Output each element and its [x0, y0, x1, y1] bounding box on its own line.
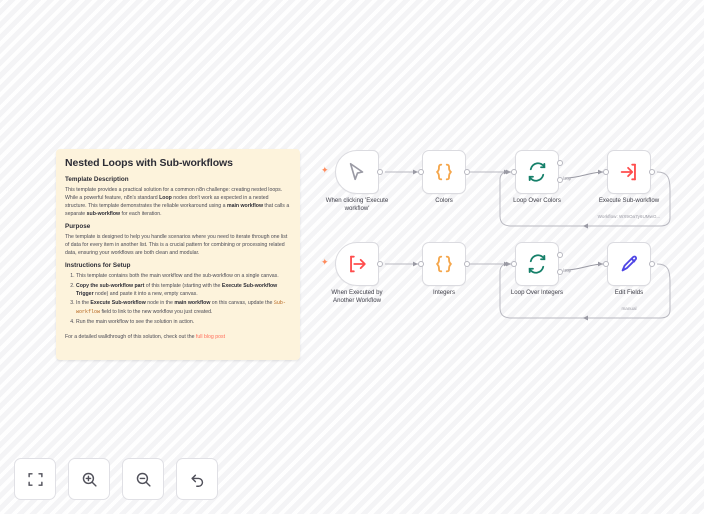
output-port-done[interactable] [557, 252, 563, 258]
instruction-item: Copy the sub-workflow part of this templ… [76, 282, 291, 298]
zoom-out-button[interactable] [122, 458, 164, 500]
description-bold-loop: Loop [159, 195, 172, 201]
footer-text: For a detailed walkthrough of this solut… [65, 334, 196, 340]
sticky-note-panel[interactable]: Nested Loops with Sub-workflows Template… [56, 149, 300, 360]
instruction-text: Copy the sub-workflow part [76, 283, 144, 289]
node-loop-over-integers[interactable]: loopLoop Over Integers [515, 242, 559, 286]
purpose-paragraph: The template is designed to help you han… [65, 233, 291, 257]
output-port[interactable] [464, 169, 470, 175]
node-integers[interactable]: Integers [422, 242, 466, 286]
loop-refresh-icon [526, 161, 548, 183]
node-loop-over-colors[interactable]: loopLoop Over Colors [515, 150, 559, 194]
instructions-list: This template contains both the main wor… [76, 272, 291, 326]
node-when-clicking-execute-workflow[interactable]: ✦When clicking 'Execute workflow' [335, 150, 379, 194]
execute-arrow-icon [618, 161, 640, 183]
sticky-note-footer: For a detailed walkthrough of this solut… [65, 334, 291, 340]
trigger-bolt-icon: ✦ [321, 166, 329, 175]
node-colors[interactable]: Colors [422, 150, 466, 194]
description-paragraph: This template provides a practical solut… [65, 186, 291, 218]
node-body-when-executed-by-another-workflow[interactable] [335, 242, 379, 286]
output-port-loop-label: loop [563, 176, 571, 181]
input-port[interactable] [511, 169, 517, 175]
output-port-done[interactable] [557, 160, 563, 166]
input-port[interactable] [603, 261, 609, 267]
reset-zoom-button[interactable] [176, 458, 218, 500]
instruction-item: Run the main workflow to see the solutio… [76, 318, 291, 326]
output-port[interactable] [377, 261, 383, 267]
node-label: Execute Sub-workflow [577, 197, 681, 205]
node-label: Loop Over Integers [485, 289, 589, 297]
node-body-edit-fields[interactable] [607, 242, 651, 286]
pencil-icon [618, 253, 640, 275]
sticky-note-title: Nested Loops with Sub-workflows [65, 157, 291, 170]
output-port[interactable] [464, 261, 470, 267]
instruction-text: Run the main workflow to see the solutio… [76, 319, 194, 325]
instruction-text: This template contains both the main wor… [76, 273, 279, 279]
node-body-when-clicking-execute-workflow[interactable] [335, 150, 379, 194]
instruction-text: of this template (starting with the [144, 283, 222, 289]
instruction-text: field to link to the new workflow you ju… [100, 309, 212, 315]
loop-refresh-icon [526, 253, 548, 275]
instruction-text: on this canvas, update the [210, 300, 273, 306]
enter-arrow-icon [346, 253, 368, 275]
node-when-executed-by-another-workflow[interactable]: ✦When Executed by Another Workflow [335, 242, 379, 286]
code-braces-icon [433, 161, 455, 183]
zoom-in-button[interactable] [68, 458, 110, 500]
description-text-4: for each iteration. [120, 211, 162, 217]
input-port[interactable] [603, 169, 609, 175]
instruction-text: In the [76, 300, 90, 306]
node-body-loop-over-integers[interactable] [515, 242, 559, 286]
node-edit-fields[interactable]: Edit Fieldsmanual [607, 242, 651, 286]
node-label: Edit Fields [577, 289, 681, 297]
output-port[interactable] [649, 169, 655, 175]
node-body-integers[interactable] [422, 242, 466, 286]
full-blog-post-link[interactable]: full blog post [196, 334, 225, 340]
section-heading-purpose: Purpose [65, 223, 291, 230]
output-port-loop-label: loop [563, 268, 571, 273]
instruction-text: Execute Sub-workflow [90, 300, 145, 306]
trigger-bolt-icon: ✦ [321, 258, 329, 267]
cursor-icon [346, 161, 368, 183]
node-body-execute-sub-workflow[interactable] [607, 150, 651, 194]
zoom-in-icon [81, 471, 98, 488]
instruction-text: node in the [146, 300, 175, 306]
section-heading-description: Template Description [65, 176, 291, 183]
input-port[interactable] [511, 261, 517, 267]
fit-to-view-button[interactable] [14, 458, 56, 500]
instruction-text: node) and paste it into a new, empty can… [94, 291, 198, 297]
node-execute-sub-workflow[interactable]: Execute Sub-workflowWorkflow: WX9Oa7y6UM… [607, 150, 651, 194]
zoom-out-icon [135, 471, 152, 488]
node-label: Colors [392, 197, 496, 205]
node-subtitle: manual [579, 306, 679, 311]
output-port[interactable] [649, 261, 655, 267]
node-label: Loop Over Colors [485, 197, 589, 205]
input-port[interactable] [418, 261, 424, 267]
instruction-item: In the Execute Sub-workflow node in the … [76, 299, 291, 317]
instruction-text: main workflow [174, 300, 210, 306]
input-port[interactable] [418, 169, 424, 175]
node-body-colors[interactable] [422, 150, 466, 194]
node-label: Integers [392, 289, 496, 297]
description-bold-sub-workflow: sub-workflow [87, 211, 120, 217]
fit-view-icon [27, 471, 44, 488]
node-body-loop-over-colors[interactable] [515, 150, 559, 194]
output-port[interactable] [377, 169, 383, 175]
canvas-toolbar [14, 458, 218, 500]
undo-arrow-icon [189, 471, 206, 488]
description-bold-main-workflow: main workflow [227, 203, 263, 209]
node-subtitle: Workflow: WX9Oa7y6UMwG... [579, 214, 679, 219]
instruction-item: This template contains both the main wor… [76, 272, 291, 280]
code-braces-icon [433, 253, 455, 275]
section-heading-instructions: Instructions for Setup [65, 262, 291, 269]
workflow-canvas[interactable]: Nested Loops with Sub-workflows Template… [0, 0, 704, 514]
